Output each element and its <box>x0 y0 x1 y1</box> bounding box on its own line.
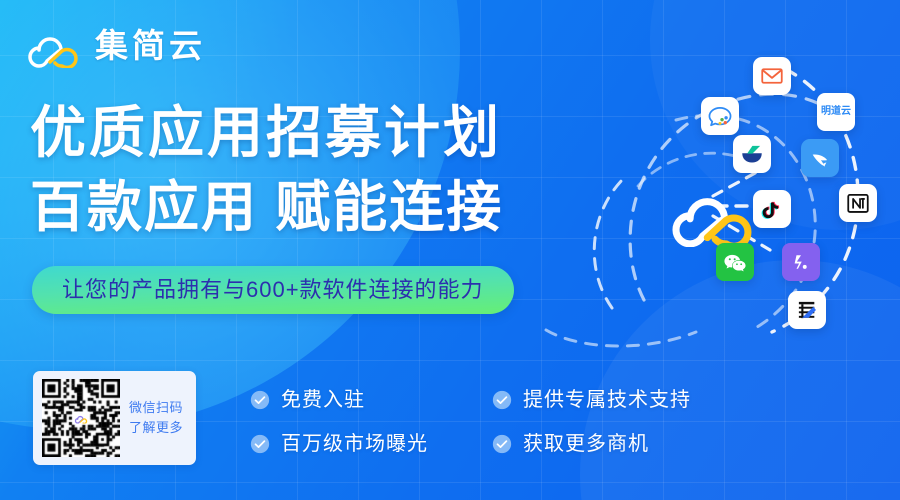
app-icon-mingdaoyun-label: 明道云 <box>821 107 851 117</box>
chat-bubble-icon <box>707 103 733 129</box>
kujiale-icon <box>789 250 813 274</box>
promo-banner: 集简云 优质应用招募计划 百款应用 赋能连接 让您的产品拥有与600+款软件连接… <box>0 0 900 500</box>
tiktok-icon <box>760 197 785 222</box>
headline-secondary: 百款应用 赋能连接 <box>30 180 503 235</box>
app-icon-wechat[interactable] <box>716 243 754 281</box>
feature-item-market-exposure: 百万级市场曝光 <box>250 434 492 454</box>
qr-caption: 微信扫码 了解更多 <box>129 401 183 436</box>
qr-center-logo-icon <box>73 412 90 425</box>
feature-item-free-entry: 免费入驻 <box>250 390 492 410</box>
dingtalk-icon <box>808 146 833 171</box>
subtitle-text: 让您的产品拥有与600+款软件连接的能力 <box>62 279 484 301</box>
app-icon-notion[interactable] <box>839 184 877 222</box>
app-icon-wps-form[interactable] <box>788 291 826 329</box>
app-icon-dingtalk[interactable] <box>801 139 839 177</box>
app-icon-kujiale[interactable] <box>782 243 820 281</box>
notion-icon <box>845 190 871 216</box>
app-icon-email[interactable] <box>753 57 791 95</box>
qr-code-icon[interactable] <box>42 379 120 457</box>
feature-list: 免费入驻 提供专属技术支持 百万级市场曝光 获取更多商机 <box>250 378 750 466</box>
boat-bowl-icon <box>739 141 765 167</box>
app-icon-chat[interactable] <box>701 97 739 135</box>
qr-card[interactable]: 微信扫码 了解更多 <box>33 371 196 465</box>
jijianyun-cloud-icon <box>662 175 762 247</box>
cloud-infinity-logo-icon <box>22 22 84 68</box>
check-circle-icon <box>492 434 512 454</box>
app-icon-tiktok[interactable] <box>753 190 791 228</box>
feature-label: 提供专属技术支持 <box>523 390 691 410</box>
headline-primary: 优质应用招募计划 <box>30 105 502 161</box>
feature-label: 获取更多商机 <box>523 434 649 454</box>
app-icon-mingdaoyun[interactable]: 明道云 <box>817 93 855 131</box>
app-icon-boat[interactable] <box>733 135 771 173</box>
feature-item-business-opportunity: 获取更多商机 <box>492 434 742 454</box>
feature-label: 免费入驻 <box>281 390 365 410</box>
check-circle-icon <box>250 390 270 410</box>
subtitle-pill: 让您的产品拥有与600+款软件连接的能力 <box>32 266 514 314</box>
wps-form-icon <box>794 297 820 323</box>
bubble-tail-icon <box>825 129 837 131</box>
brand-logo-text: 集简云 <box>95 29 206 62</box>
qr-caption-line-1: 微信扫码 <box>129 401 183 416</box>
check-circle-icon <box>492 390 512 410</box>
feature-label: 百万级市场曝光 <box>281 434 428 454</box>
qr-caption-line-2: 了解更多 <box>129 421 183 436</box>
brand-logo: 集简云 <box>22 22 206 68</box>
feature-item-tech-support: 提供专属技术支持 <box>492 390 742 410</box>
check-circle-icon <box>250 434 270 454</box>
email-envelope-icon <box>760 64 784 88</box>
integration-graphic: 明道云 <box>520 0 900 370</box>
wechat-icon <box>722 249 748 275</box>
